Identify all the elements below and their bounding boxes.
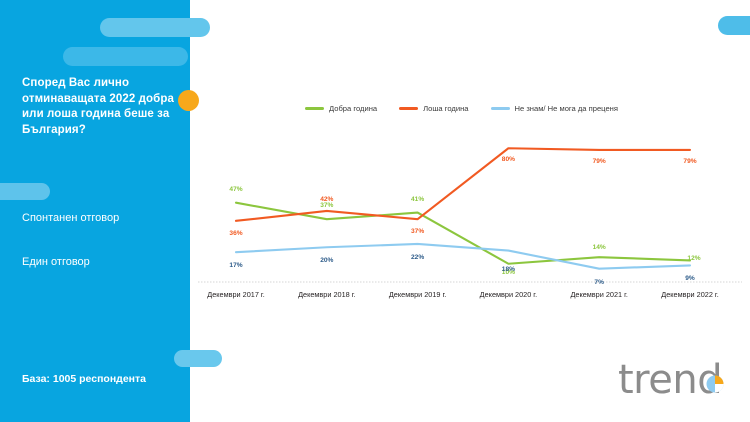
legend-swatch-icon <box>399 107 418 109</box>
data-label-s2-p2: 22% <box>411 254 424 261</box>
base-respondents-note: База: 1005 респондента <box>22 373 197 385</box>
question-title: Според Вас лично отминаващата 2022 добра… <box>22 76 177 138</box>
trend-logo: trend <box>618 358 733 406</box>
x-axis-tick-1: Декември 2018 г. <box>298 290 355 299</box>
data-label-s1-p1: 42% <box>320 196 333 203</box>
decorative-pill-top-2 <box>63 47 188 66</box>
legend-item-2[interactable]: Не знам/ Не мога да преценя <box>491 104 618 113</box>
note-spontaneous-answer: Спонтанен отговор <box>22 211 187 225</box>
data-label-s0-p1: 37% <box>320 202 333 209</box>
decorative-dot-orange <box>178 90 199 111</box>
note-single-answer: Един отговор <box>22 255 187 269</box>
legend-label: Лоша година <box>423 104 468 113</box>
x-axis-tick-4: Декември 2021 г. <box>570 290 627 299</box>
data-label-s2-p5: 9% <box>685 275 695 282</box>
decorative-pill-top-1 <box>100 18 210 37</box>
data-label-s1-p3: 80% <box>502 156 515 163</box>
legend-label: Не знам/ Не мога да преценя <box>515 104 618 113</box>
data-label-s0-p0: 47% <box>229 186 242 193</box>
data-label-s1-p5: 79% <box>683 158 696 165</box>
legend-item-0[interactable]: Добра година <box>305 104 377 113</box>
legend-swatch-icon <box>305 107 324 109</box>
legend-item-1[interactable]: Лоша година <box>399 104 468 113</box>
data-label-s2-p1: 20% <box>320 257 333 264</box>
series-line-0 <box>236 203 690 264</box>
data-label-s0-p2: 41% <box>411 196 424 203</box>
data-label-s1-p0: 36% <box>229 230 242 237</box>
decorative-pill-mid-left <box>0 183 50 200</box>
data-label-s0-p5: 12% <box>687 255 700 262</box>
data-label-s2-p3: 18% <box>502 266 515 273</box>
legend-label: Добра година <box>329 104 377 113</box>
chart-series-group <box>236 148 690 268</box>
logo-pie-chart-icon <box>618 358 733 406</box>
x-axis-labels: Декември 2017 г.Декември 2018 г.Декември… <box>190 290 750 306</box>
slide-canvas: Според Вас лично отминаващата 2022 добра… <box>0 0 750 422</box>
series-line-1 <box>236 148 690 221</box>
data-label-s2-p4: 7% <box>594 279 604 286</box>
x-axis-tick-3: Декември 2020 г. <box>480 290 537 299</box>
data-label-s1-p4: 79% <box>593 158 606 165</box>
chart-legend: Добра годинаЛоша годинаНе знам/ Не мога … <box>305 104 618 113</box>
series-line-2 <box>236 244 690 269</box>
x-axis-tick-0: Декември 2017 г. <box>207 290 264 299</box>
x-axis-tick-2: Декември 2019 г. <box>389 290 446 299</box>
legend-swatch-icon <box>491 107 510 109</box>
data-label-s2-p0: 17% <box>229 262 242 269</box>
x-axis-tick-5: Декември 2022 г. <box>661 290 718 299</box>
decorative-pill-bottom-edge <box>174 350 222 367</box>
data-label-s0-p4: 14% <box>593 244 606 251</box>
data-label-s1-p2: 37% <box>411 228 424 235</box>
